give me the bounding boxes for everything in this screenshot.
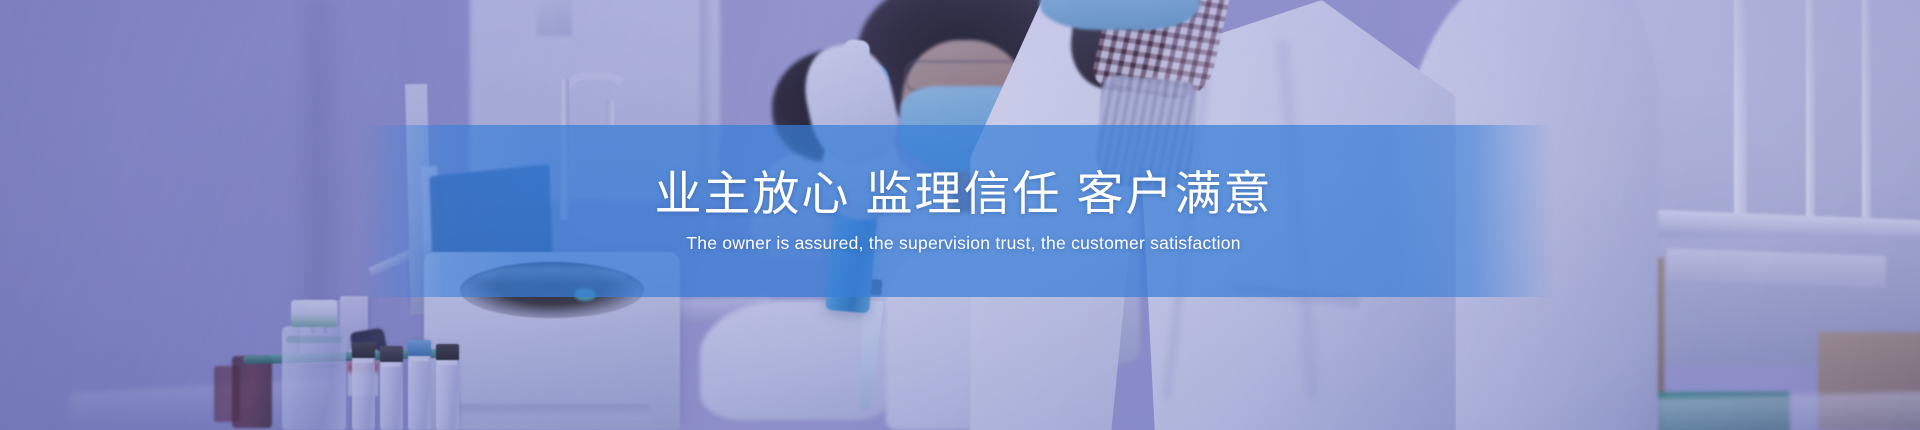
subheadline-english: The owner is assured, the supervision tr…	[686, 233, 1240, 254]
headline-chinese: 业主放心 监理信任 客户满意	[654, 168, 1272, 220]
text-overlay-banner: 业主放心 监理信任 客户满意 The owner is assured, the…	[360, 125, 1555, 297]
hero-banner: 业主放心 监理信任 客户满意 The owner is assured, the…	[0, 0, 1920, 430]
